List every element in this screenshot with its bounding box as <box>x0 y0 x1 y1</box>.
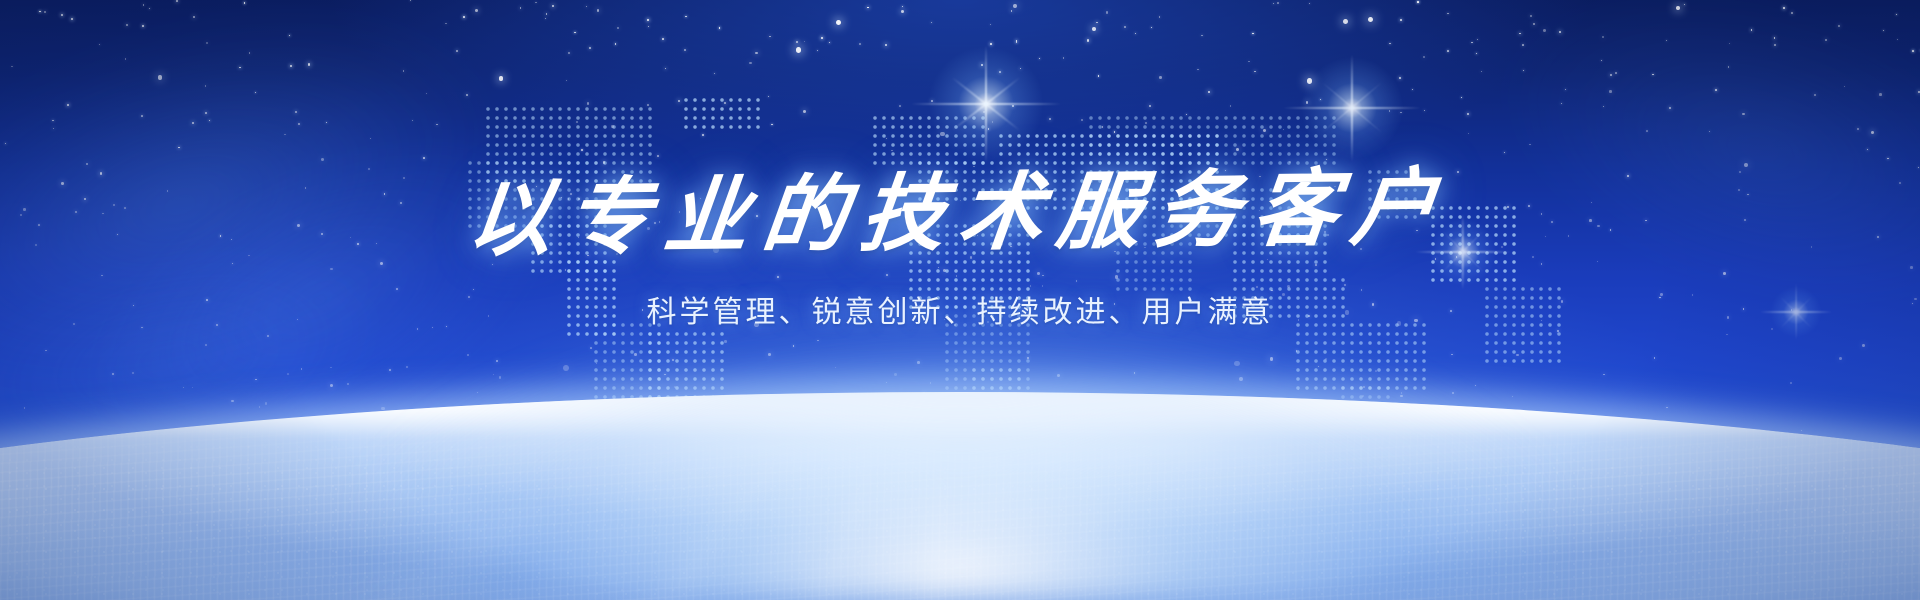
nebula-wisp <box>1450 0 1920 371</box>
city-light-specks <box>0 418 1920 600</box>
banner-headline: 以专业的技术服务客户 <box>463 140 1458 273</box>
earth-surface <box>0 392 1920 600</box>
hero-banner: 以专业的技术服务客户 科学管理、锐意创新、持续改进、用户满意 <box>0 0 1920 600</box>
lens-flare-star <box>1770 286 1822 338</box>
banner-subtitle: 科学管理、锐意创新、持续改进、用户满意 <box>647 287 1274 331</box>
